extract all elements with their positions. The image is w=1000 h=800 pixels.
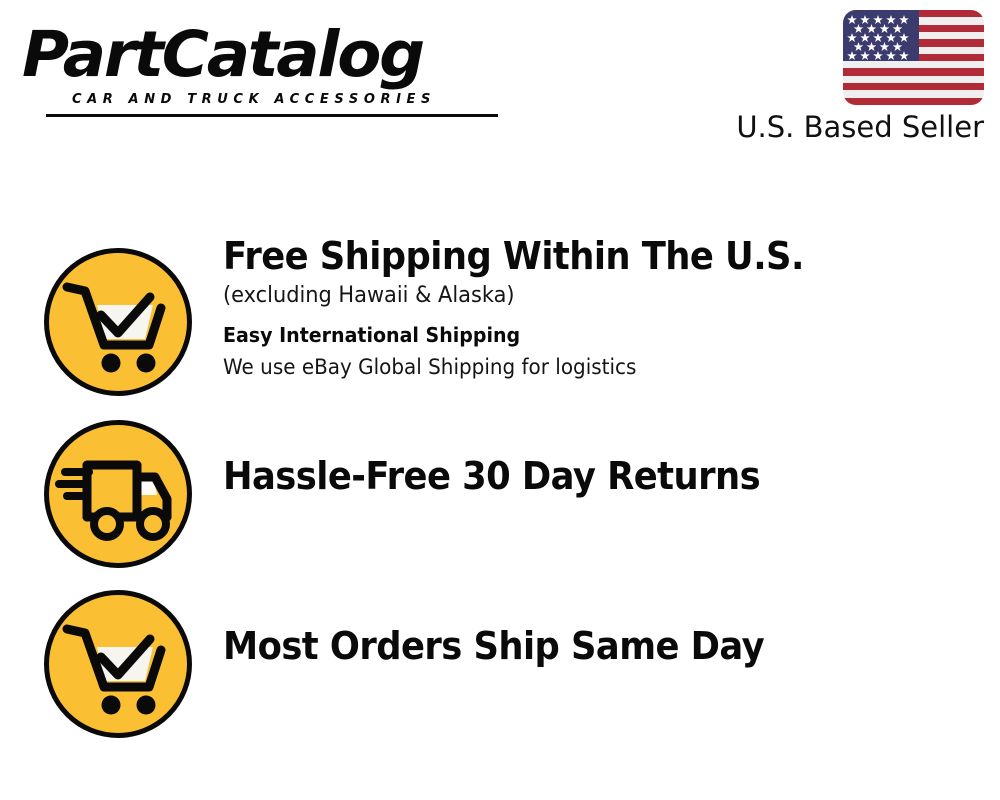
delivery-truck-icon [44, 420, 192, 568]
shopping-cart-check-icon [44, 248, 192, 396]
feature-title: Hassle-Free 30 Day Returns [223, 452, 927, 500]
banner-header: PartCatalog CAR AND TRUCK ACCESSORIES [0, 0, 1000, 170]
flag-canton [843, 10, 919, 61]
brand-name: PartCatalog [22, 22, 501, 88]
feature-row: Free Shipping Within The U.S. (excluding… [0, 232, 1000, 407]
feature-text-block: Most Orders Ship Same Day [223, 622, 980, 670]
us-based-seller-block: U.S. Based Seller [704, 10, 984, 144]
feature-text-block: Free Shipping Within The U.S. (excluding… [223, 232, 980, 382]
feature-title: Most Orders Ship Same Day [223, 622, 927, 670]
feature-row: Most Orders Ship Same Day [0, 574, 1000, 744]
feature-title: Free Shipping Within The U.S. [223, 232, 927, 280]
us-based-seller-label: U.S. Based Seller [704, 110, 984, 144]
shopping-cart-check-icon [44, 590, 192, 738]
brand-underline [46, 114, 498, 117]
promo-banner: PartCatalog CAR AND TRUCK ACCESSORIES [0, 0, 1000, 800]
feature-subtitle: Easy International Shipping [223, 318, 942, 352]
feature-row: Hassle-Free 30 Day Returns [0, 404, 1000, 574]
feature-subtitle-detail: We use eBay Global Shipping for logistic… [223, 352, 942, 382]
brand-tagline: CAR AND TRUCK ACCESSORIES [72, 92, 436, 107]
brand-logo: PartCatalog CAR AND TRUCK ACCESSORIES [22, 22, 492, 117]
feature-note: (excluding Hawaii & Alaska) [223, 280, 942, 312]
feature-text-block: Hassle-Free 30 Day Returns [223, 452, 980, 500]
us-flag-icon [843, 10, 984, 105]
